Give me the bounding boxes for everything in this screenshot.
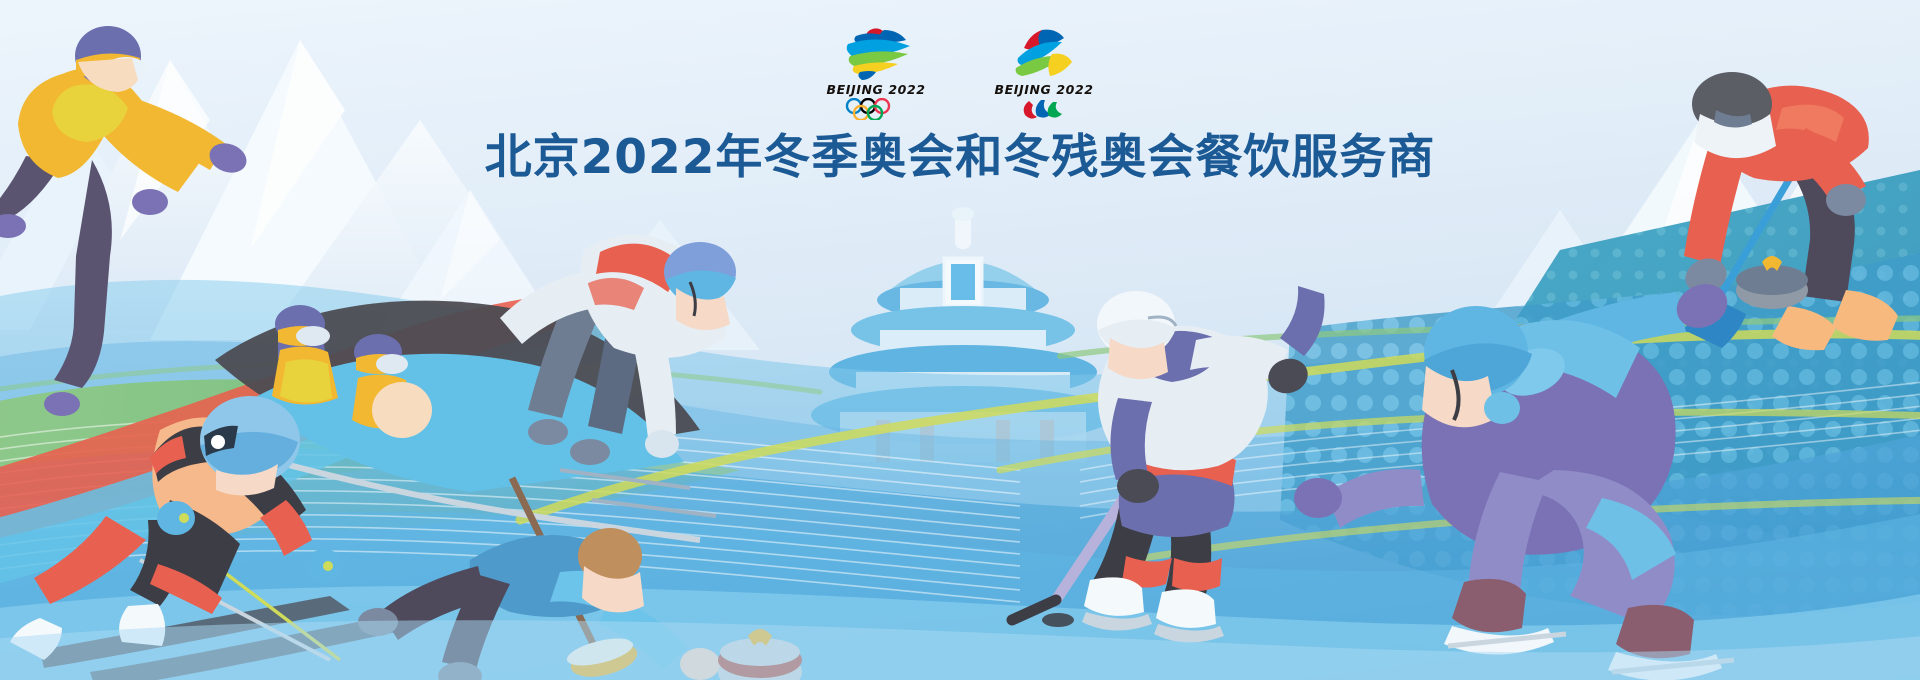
page-title: 北京2022年冬季奥会和冬残奥会餐饮服务商 — [0, 118, 1920, 187]
paralympic-wordmark: BEIJING 2022 — [994, 82, 1093, 97]
olympic-catering-banner: BEIJING 2022 BEIJING 2022 — [0, 0, 1920, 680]
beijing-2022-olympic-emblem: BEIJING 2022 — [820, 26, 932, 120]
paralympic-agitos-icon — [1021, 98, 1067, 120]
beijing-2022-paralympic-emblem: BEIJING 2022 — [988, 26, 1100, 120]
emblem-row: BEIJING 2022 BEIJING 2022 — [0, 26, 1920, 122]
olympic-wordmark: BEIJING 2022 — [826, 82, 925, 97]
olympic-rings-icon — [843, 98, 909, 120]
paralympic-emblem-mark — [994, 26, 1094, 80]
olympic-emblem-mark — [826, 26, 926, 80]
